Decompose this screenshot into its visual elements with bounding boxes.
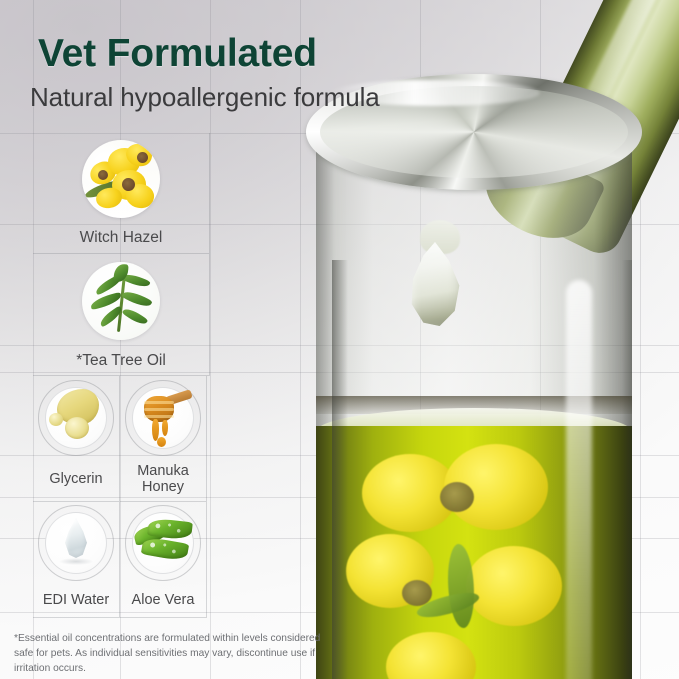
- table-row: EDI Water: [33, 502, 210, 618]
- glass-vessel: [316, 110, 632, 679]
- ingredient-cell-tea-tree-oil: *Tea Tree Oil: [33, 254, 210, 376]
- vessel-right-edge: [622, 260, 632, 679]
- tea-tree-sprig-icon: [82, 262, 160, 340]
- vessel-highlight: [566, 280, 592, 679]
- ingredient-label: EDI Water: [43, 593, 109, 609]
- vessel-left-edge: [332, 260, 348, 679]
- ingredient-table: Witch Hazel: [33, 133, 210, 618]
- ingredient-cell-witch-hazel: Witch Hazel: [33, 133, 210, 254]
- image-canvas: Vet Formulated Natural hypoallergenic fo…: [0, 0, 679, 679]
- table-row: Glycerin: [33, 376, 210, 502]
- ingredient-label: *Tea Tree Oil: [76, 353, 166, 370]
- witch-hazel-flower-icon: [82, 140, 160, 218]
- ingredient-label: Aloe Vera: [132, 593, 195, 609]
- glycerin-oil-drops-icon: [38, 380, 114, 456]
- ingredient-label: Witch Hazel: [80, 230, 163, 247]
- table-row: Witch Hazel: [33, 133, 210, 254]
- page-title: Vet Formulated: [38, 34, 317, 75]
- ingredient-cell-glycerin: Glycerin: [33, 376, 120, 502]
- water-droplet-icon: [38, 505, 114, 581]
- ingredient-cell-manuka-honey: Manuka Honey: [120, 376, 207, 502]
- aloe-vera-slices-icon: [125, 505, 201, 581]
- ingredient-cell-aloe-vera: Aloe Vera: [120, 502, 207, 618]
- table-row: *Tea Tree Oil: [33, 254, 210, 376]
- ingredient-cell-edi-water: EDI Water: [33, 502, 120, 618]
- ingredient-label: Glycerin: [49, 472, 102, 488]
- ingredient-label-line1: Manuka: [137, 464, 189, 480]
- page-subtitle: Natural hypoallergenic formula: [30, 82, 380, 113]
- ingredient-label-line2: Honey: [142, 480, 184, 496]
- honey-dipper-icon: [125, 380, 201, 456]
- footnote-disclaimer: *Essential oil concentrations are formul…: [14, 631, 332, 676]
